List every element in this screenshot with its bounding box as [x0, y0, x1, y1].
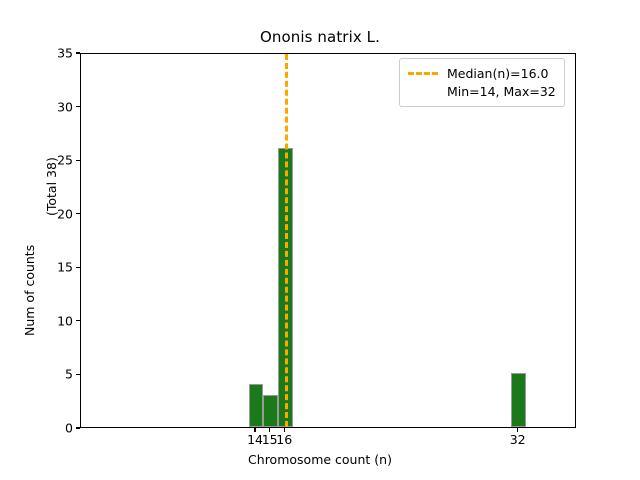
y-tick-label: 30 — [33, 99, 73, 114]
bar — [263, 395, 278, 427]
y-tick-mark — [76, 267, 80, 268]
legend-dashed-line-icon — [408, 72, 438, 75]
legend-label: Min=14, Max=32 — [447, 84, 556, 99]
y-tick-label: 15 — [33, 260, 73, 275]
y-tick-mark — [76, 374, 80, 375]
y-tick-label: 0 — [33, 421, 73, 436]
bar — [511, 373, 526, 427]
legend-entry: Median(n)=16.0 — [408, 64, 556, 82]
y-tick-mark — [76, 320, 80, 321]
y-tick-mark — [76, 213, 80, 214]
figure: Ononis natrix L. Num of counts (Total 38… — [0, 0, 640, 480]
x-tick-mark — [254, 428, 255, 432]
plot-area — [80, 53, 576, 428]
x-tick-label: 14 — [247, 432, 263, 447]
x-tick-label: 15 — [262, 432, 278, 447]
x-axis-label: Chromosome count (n) — [0, 452, 640, 467]
legend-entry: Min=14, Max=32 — [408, 82, 556, 100]
y-tick-label: 25 — [33, 153, 73, 168]
y-tick-label: 35 — [33, 46, 73, 61]
y-axis-label-group: Num of counts (Total 38) — [0, 0, 40, 480]
y-tick-mark — [76, 160, 80, 161]
x-tick-label: 16 — [276, 432, 292, 447]
chart-title: Ononis natrix L. — [0, 28, 640, 46]
x-tick-label: 32 — [510, 432, 526, 447]
legend-label: Median(n)=16.0 — [447, 66, 548, 81]
y-tick-label: 20 — [33, 206, 73, 221]
y-tick-label: 10 — [33, 313, 73, 328]
x-tick-mark — [269, 428, 270, 432]
x-tick-mark — [517, 428, 518, 432]
y-tick-label: 5 — [33, 367, 73, 382]
y-tick-mark — [76, 106, 80, 107]
legend: Median(n)=16.0Min=14, Max=32 — [399, 58, 565, 107]
bar — [249, 384, 264, 427]
y-tick-mark — [76, 52, 80, 53]
y-tick-mark — [76, 427, 80, 428]
x-tick-mark — [284, 428, 285, 432]
median-line-annotation — [285, 54, 288, 427]
